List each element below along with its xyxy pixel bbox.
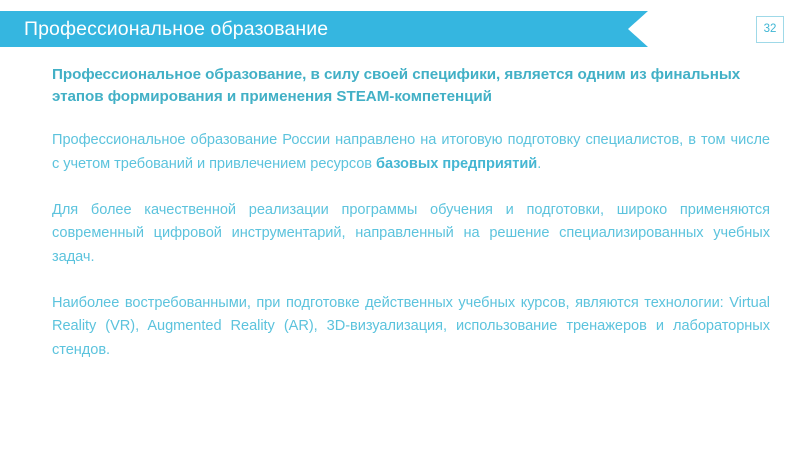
paragraph: Профессиональное образование России напр… bbox=[52, 129, 770, 176]
paragraph-text-before: Для более качественной реализации програ… bbox=[52, 202, 770, 265]
content-area: Профессиональное образование, в силу сво… bbox=[52, 64, 770, 362]
paragraph-text-before: Наиболее востребованными, при подготовке… bbox=[52, 295, 770, 358]
body-paragraphs: Профессиональное образование России напр… bbox=[52, 129, 770, 362]
page-number-value: 32 bbox=[764, 24, 777, 36]
page-title: Профессиональное образование bbox=[24, 11, 328, 47]
slide: Профессиональное образование 32 Професси… bbox=[0, 0, 800, 450]
paragraph: Наиболее востребованными, при подготовке… bbox=[52, 292, 770, 362]
paragraph: Для более качественной реализации програ… bbox=[52, 199, 770, 269]
page-number-badge: 32 bbox=[756, 16, 784, 43]
paragraph-emphasis: базовых предприятий bbox=[376, 156, 537, 172]
lead-heading: Профессиональное образование, в силу сво… bbox=[52, 64, 770, 107]
paragraph-text-after: . bbox=[537, 156, 541, 172]
